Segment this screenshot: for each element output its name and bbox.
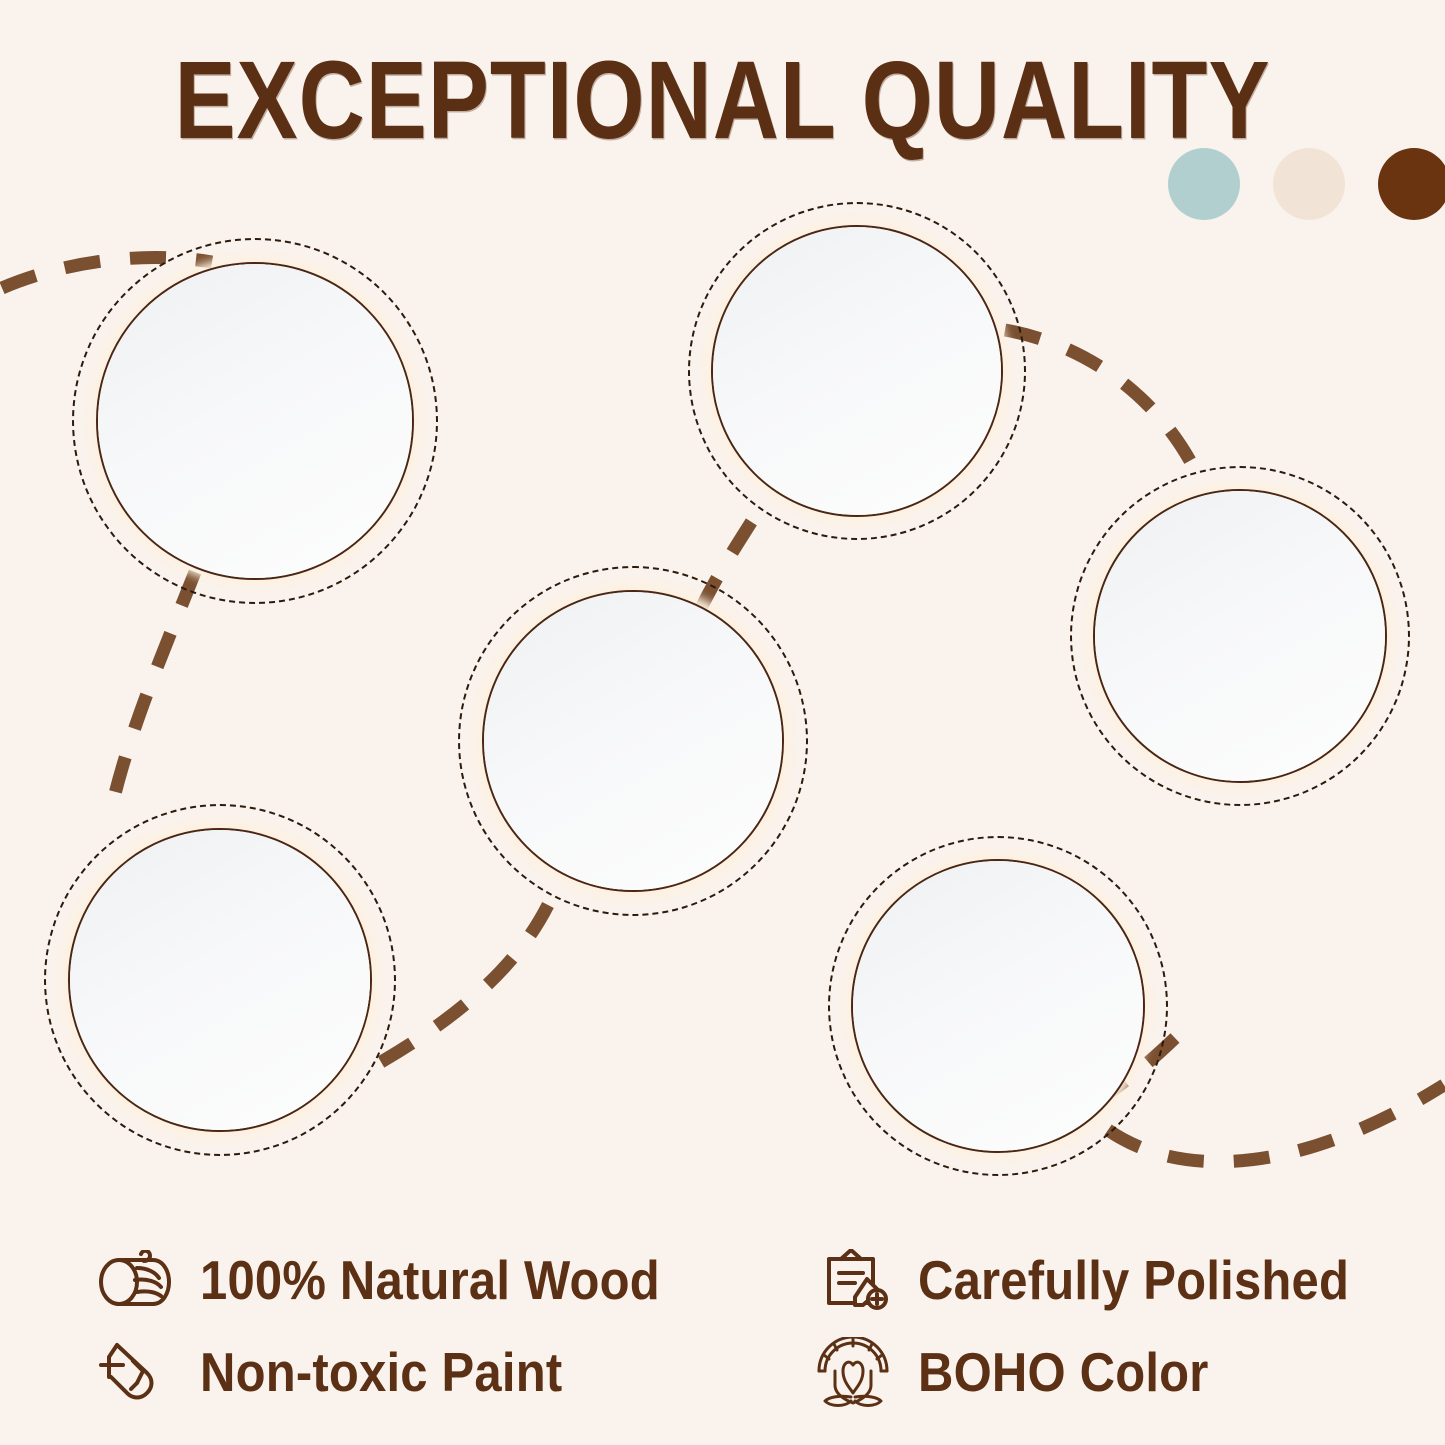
photo-circle-triangle bbox=[72, 238, 438, 604]
connector-segment-xylophone-to-maraca bbox=[1005, 330, 1196, 472]
triangle-instrument-photo bbox=[96, 262, 414, 580]
photo-circle-xylophone bbox=[688, 202, 1026, 540]
connector-segment-tambourine-to-guiro bbox=[381, 905, 548, 1062]
photo-circle-maraca bbox=[1070, 466, 1410, 806]
photo-circle-tambourine bbox=[44, 804, 396, 1156]
feature-label: 100% Natural Wood bbox=[200, 1250, 660, 1313]
guiro-rasp-photo bbox=[482, 590, 784, 892]
feature-label: BOHO Color bbox=[918, 1342, 1209, 1405]
photo-circle-guiro bbox=[458, 566, 808, 916]
paint-brush-icon bbox=[92, 1337, 178, 1409]
connector-segment-triangle-to-tambourine bbox=[112, 572, 195, 806]
feature-item-boho-color: BOHO Color bbox=[810, 1327, 1430, 1419]
feature-label: Carefully Polished bbox=[918, 1250, 1349, 1313]
maraca-photo bbox=[1093, 489, 1387, 783]
feature-item-natural-wood: 100% Natural Wood bbox=[92, 1235, 752, 1327]
feature-label: Non-toxic Paint bbox=[200, 1342, 562, 1405]
clipboard-edit-icon bbox=[810, 1245, 896, 1317]
boho-sun-emblem-icon bbox=[810, 1337, 896, 1409]
feature-list: 100% Natural Wood Non-toxic Paint bbox=[0, 1235, 1445, 1420]
feature-item-carefully-polished: Carefully Polished bbox=[810, 1235, 1430, 1327]
feature-column-left: 100% Natural Wood Non-toxic Paint bbox=[92, 1235, 752, 1419]
tambourine-photo bbox=[68, 828, 372, 1132]
xylophone-photo bbox=[711, 225, 1003, 517]
feature-item-nontoxic-paint: Non-toxic Paint bbox=[92, 1327, 752, 1419]
wood-log-icon bbox=[92, 1245, 178, 1317]
train-whistle-photo bbox=[851, 859, 1145, 1153]
feature-column-right: Carefully Polished bbox=[810, 1235, 1430, 1419]
photo-circle-whistle bbox=[828, 836, 1168, 1176]
